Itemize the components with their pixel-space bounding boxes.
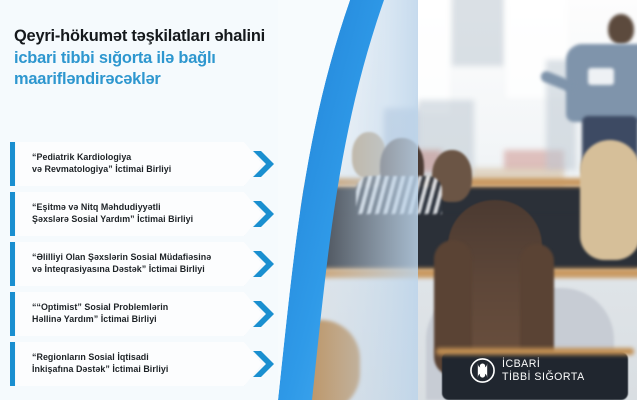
list-item-label: ““Optimist” Sosial Problemlərin Həllinə … (32, 292, 237, 336)
list-item-label: “Əlilliyi Olan Şəxslərin Sosial Müdafiəs… (32, 242, 237, 286)
list-item-line-1: “Eşitmə və Nitq Məhdudiyyətli (32, 202, 237, 214)
list-item-label: “Eşitmə və Nitq Məhdudiyyətli Şəxslərə S… (32, 192, 237, 236)
content-panel: Qeyri-hökumət təşkilatları əhalini icbar… (0, 0, 310, 400)
list-item-label: “Regionların Sosial İqtisadi İnkişafına … (32, 342, 237, 386)
title-line-3: maarifləndirəcəklər (14, 69, 314, 91)
audience-head (580, 140, 637, 260)
list-item[interactable]: “Regionların Sosial İqtisadi İnkişafına … (10, 342, 302, 386)
accent-bar (10, 192, 15, 236)
organization-list: “Pediatrik Kardiologiya və Revmatologiya… (10, 142, 302, 392)
list-item[interactable]: ““Optimist” Sosial Problemlərin Həllinə … (10, 292, 302, 336)
icbari-tibbi-sigorta-logo: İCBARİ TİBBİ SIĞORTA (470, 358, 585, 383)
list-item[interactable]: “Pediatrik Kardiologiya və Revmatologiya… (10, 142, 302, 186)
banner: Qeyri-hökumət təşkilatları əhalini icbar… (0, 0, 637, 400)
presenter-figure (576, 14, 634, 44)
accent-bar (10, 292, 15, 336)
insurance-circle-icon (470, 358, 495, 383)
list-item-line-1: “Pediatrik Kardiologiya (32, 152, 237, 164)
list-item-line-2: Həllinə Yardım” İctimai Birliyi (32, 314, 237, 326)
list-item-line-1: “Regionların Sosial İqtisadi (32, 352, 237, 364)
list-item-line-2: Şəxslərə Sosial Yardım” İctimai Birliyi (32, 214, 237, 226)
title-line-2: icbari tibbi sığorta ilə bağlı (14, 48, 314, 70)
list-item-line-2: və Revmatologiya” İctimai Birliyi (32, 164, 237, 176)
list-item[interactable]: “Əlilliyi Olan Şəxslərin Sosial Müdafiəs… (10, 242, 302, 286)
page-title: Qeyri-hökumət təşkilatları əhalini icbar… (14, 26, 314, 91)
chevron-right-icon[interactable] (249, 249, 279, 279)
logo-wordmark: İCBARİ TİBBİ SIĞORTA (502, 358, 585, 383)
list-item-label: “Pediatrik Kardiologiya və Revmatologiya… (32, 142, 237, 186)
list-item-line-1: ““Optimist” Sosial Problemlərin (32, 302, 237, 314)
list-item-line-1: “Əlilliyi Olan Şəxslərin Sosial Müdafiəs… (32, 252, 237, 264)
accent-bar (10, 342, 15, 386)
chevron-right-icon[interactable] (249, 199, 279, 229)
list-item[interactable]: “Eşitmə və Nitq Məhdudiyyətli Şəxslərə S… (10, 192, 302, 236)
accent-bar (10, 242, 15, 286)
photo-pane (452, 0, 504, 66)
logo-line-2: TİBBİ SIĞORTA (502, 371, 585, 383)
chair-frame (436, 348, 634, 355)
chevron-right-icon[interactable] (249, 299, 279, 329)
list-item-line-2: və İnteqrasiyasına Dəstək” İctimai Birli… (32, 264, 237, 276)
logo-line-1: İCBARİ (502, 358, 585, 370)
list-item-line-2: İnkişafına Dəstək” İctimai Birliyi (32, 364, 237, 376)
presenter-badge (588, 68, 614, 85)
accent-bar (10, 142, 15, 186)
title-line-1: Qeyri-hökumət təşkilatları əhalini (14, 26, 314, 48)
chevron-right-icon[interactable] (249, 149, 279, 179)
chevron-right-icon[interactable] (249, 349, 279, 379)
